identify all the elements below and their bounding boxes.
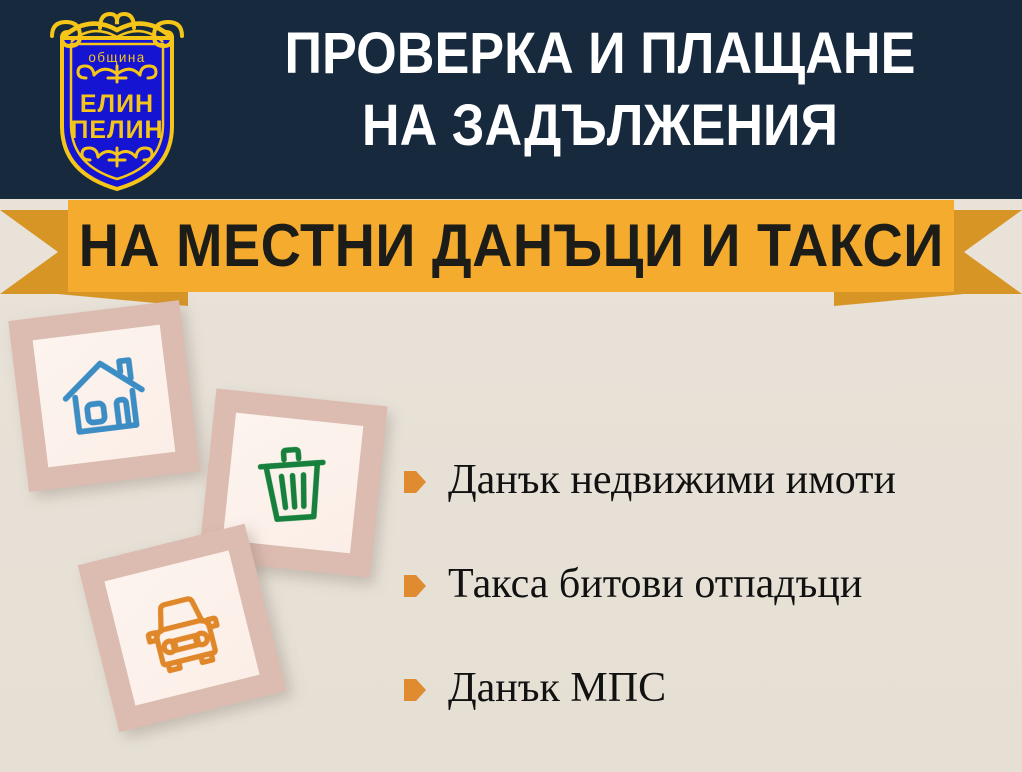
poster-canvas: община ЕЛИН ПЕЛИН ПРОВЕРКА И П <box>0 0 1022 772</box>
stamp-inner-property-tax <box>33 325 176 468</box>
coat-of-arms: община ЕЛИН ПЕЛИН <box>38 8 196 193</box>
list-item[interactable]: Такса битови отпадъци <box>404 532 1014 636</box>
stamp-card-property-tax <box>8 300 200 492</box>
house-icon <box>51 343 158 450</box>
arrow-bullet-icon <box>404 469 426 495</box>
subtitle-ribbon: НА МЕСТНИ ДАНЪЦИ И ТАКСИ <box>0 196 1022 308</box>
list-item-label: Данък МПС <box>448 665 666 711</box>
emblem-label-top: община <box>88 50 145 65</box>
car-front-icon <box>124 570 240 686</box>
page-title: ПРОВЕРКА И ПЛАЩАНЕ НА ЗАДЪЛЖЕНИЯ <box>231 18 969 162</box>
list-item[interactable]: Данък недвижими имоти <box>404 428 1014 532</box>
list-item-label: Такса битови отпадъци <box>448 561 862 607</box>
emblem-label-line2: ПЕЛИН <box>70 116 163 144</box>
page-title-line-1: ПРОВЕРКА И ПЛАЩАНЕ <box>231 18 969 90</box>
emblem-label-line1: ЕЛИН <box>80 90 154 118</box>
ribbon-label: НА МЕСТНИ ДАНЪЦИ И ТАКСИ <box>78 216 943 276</box>
list-item-label: Данък недвижими имоти <box>448 457 896 503</box>
coat-of-arms-icon: община ЕЛИН ПЕЛИН <box>38 8 196 193</box>
arrow-bullet-icon <box>404 677 426 703</box>
ribbon-band: НА МЕСТНИ ДАНЪЦИ И ТАКСИ <box>68 200 954 292</box>
page-title-line-2: НА ЗАДЪЛЖЕНИЯ <box>231 90 969 162</box>
tax-type-list: Данък недвижими имоти Такса битови отпад… <box>404 428 1014 740</box>
list-item[interactable]: Данък МПС <box>404 636 1014 740</box>
arrow-bullet-icon <box>404 573 426 599</box>
trash-can-icon <box>242 432 343 533</box>
